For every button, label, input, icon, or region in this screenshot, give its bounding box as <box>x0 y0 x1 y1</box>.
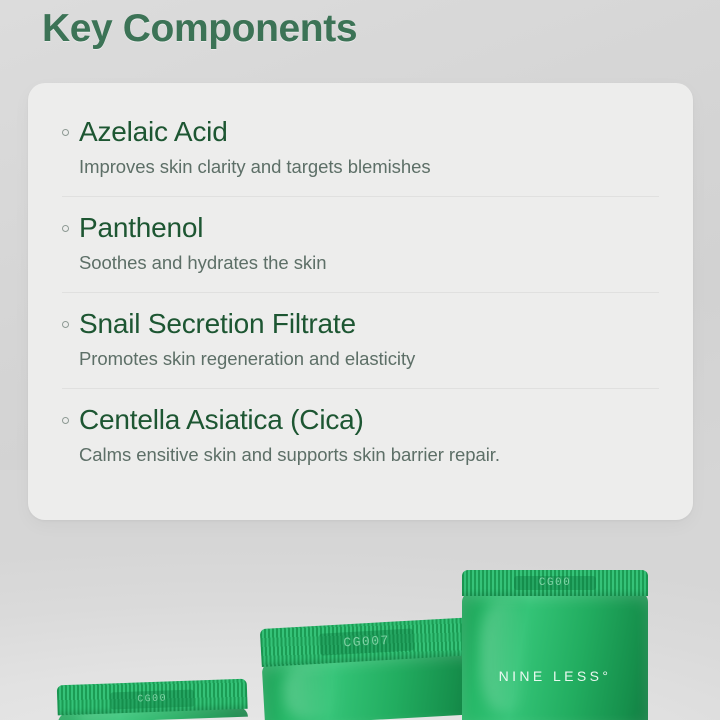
component-name: Snail Secretion Filtrate <box>79 307 356 341</box>
component-description: Calms ensitive skin and supports skin ba… <box>79 442 659 468</box>
tube-brand-label: NINE LESS° <box>462 668 648 684</box>
component-heading-row: Azelaic Acid <box>62 115 659 149</box>
product-tube-middle: NINE LESS CG007 <box>260 617 477 720</box>
component-name: Centella Asiatica (Cica) <box>79 403 364 437</box>
list-item: Azelaic Acid Improves skin clarity and t… <box>62 109 659 196</box>
component-name: Panthenol <box>79 211 203 245</box>
tube-gloss-highlight <box>481 600 529 713</box>
component-heading-row: Snail Secretion Filtrate <box>62 307 659 341</box>
product-tube-left: CG00 <box>57 679 248 720</box>
tube-body <box>462 592 648 720</box>
component-name: Azelaic Acid <box>79 115 228 149</box>
component-description: Promotes skin regeneration and elasticit… <box>79 346 659 372</box>
tube-crimp-code: CG007 <box>319 629 413 655</box>
ring-bullet-icon <box>62 129 69 136</box>
ring-bullet-icon <box>62 225 69 232</box>
component-description: Improves skin clarity and targets blemis… <box>79 154 659 180</box>
page-title: Key Components <box>42 2 357 56</box>
tube-crimp-seal: CG00 <box>462 570 648 596</box>
tube-crimp-code: CG00 <box>110 690 194 710</box>
list-item: Panthenol Soothes and hydrates the skin <box>62 196 659 292</box>
component-heading-row: Panthenol <box>62 211 659 245</box>
list-item: Centella Asiatica (Cica) Calms ensitive … <box>62 388 659 484</box>
components-list: Azelaic Acid Improves skin clarity and t… <box>62 109 659 500</box>
list-item: Snail Secretion Filtrate Promotes skin r… <box>62 292 659 388</box>
tube-crimp-code: CG00 <box>514 576 596 591</box>
ring-bullet-icon <box>62 417 69 424</box>
page-root: Key Components Azelaic Acid Improves ski… <box>0 0 720 720</box>
key-components-card: Azelaic Acid Improves skin clarity and t… <box>28 83 693 520</box>
tube-gloss-highlight <box>283 663 341 720</box>
product-photo-area: CG00 NINE LESS CG007 CG00 NINE LESS° <box>0 520 720 720</box>
component-heading-row: Centella Asiatica (Cica) <box>62 403 659 437</box>
ring-bullet-icon <box>62 321 69 328</box>
component-description: Soothes and hydrates the skin <box>79 250 659 276</box>
product-tube-right: CG00 NINE LESS° <box>462 570 648 720</box>
